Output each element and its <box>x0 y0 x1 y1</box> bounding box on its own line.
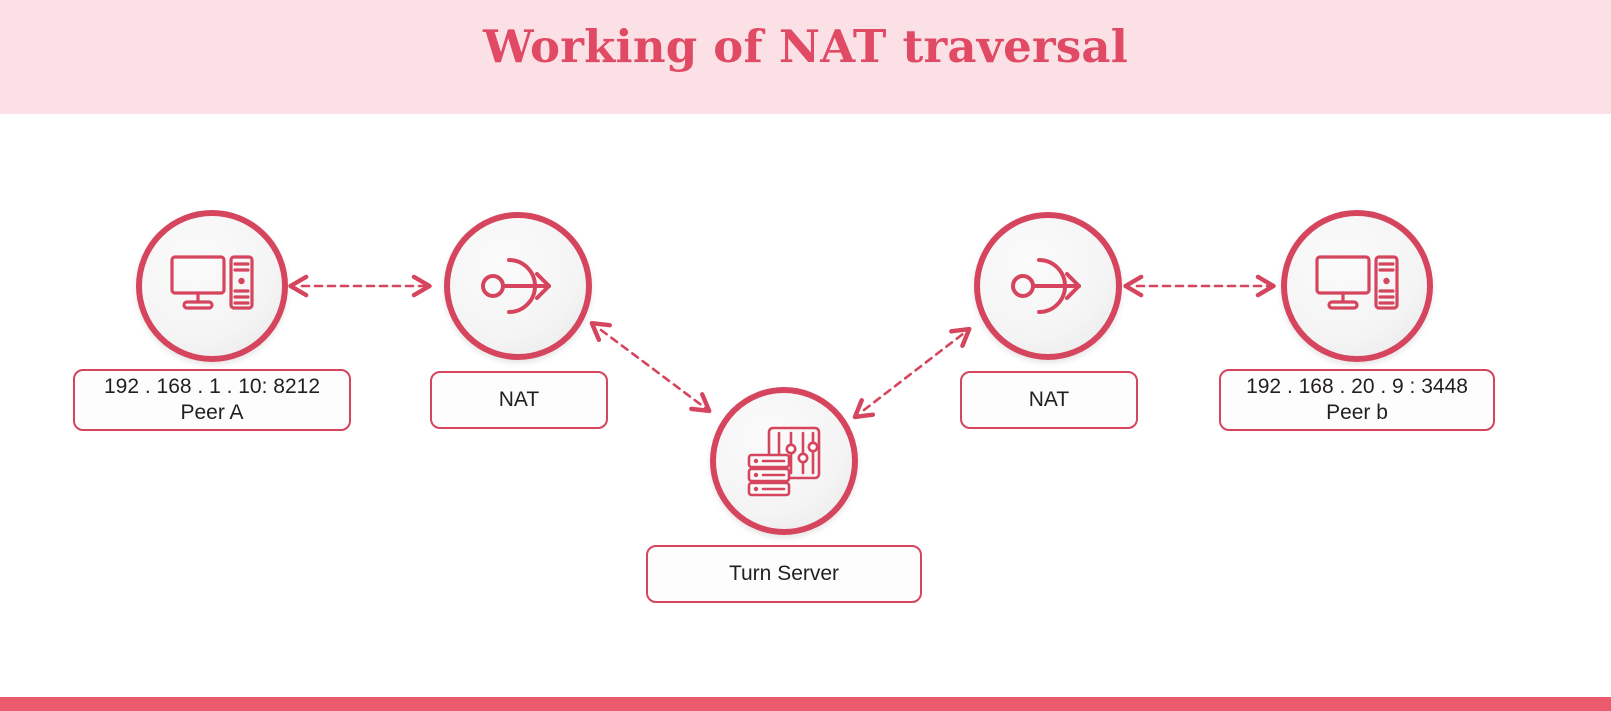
server-settings-icon <box>746 425 822 497</box>
header-band: Working of NAT traversal <box>0 0 1611 114</box>
node-nat-right[interactable] <box>974 212 1122 360</box>
label-peer-b-address: 192 . 168 . 20 . 9 : 3448 <box>1246 374 1468 400</box>
label-peer-a-name: Peer A <box>180 400 243 426</box>
label-nat-left: NAT <box>430 371 608 429</box>
node-peer-a[interactable] <box>136 210 288 362</box>
node-peer-b[interactable] <box>1281 210 1433 362</box>
label-peer-b: 192 . 168 . 20 . 9 : 3448 Peer b <box>1219 369 1495 431</box>
bottom-accent-bar <box>0 697 1611 711</box>
label-turn-server: Turn Server <box>646 545 922 603</box>
desktop-computer-icon <box>169 252 255 320</box>
desktop-computer-icon <box>1314 252 1400 320</box>
connector-turn-to-nat-right <box>864 330 968 410</box>
node-turn-server[interactable] <box>710 387 858 535</box>
label-nat-left-text: NAT <box>499 387 539 413</box>
nat-gateway-icon <box>479 253 557 319</box>
label-nat-right-text: NAT <box>1029 387 1069 413</box>
label-nat-right: NAT <box>960 371 1138 429</box>
node-nat-left[interactable] <box>444 212 592 360</box>
nat-traversal-diagram: Working of NAT traversal NAT (left) --> … <box>0 0 1611 711</box>
nat-gateway-icon <box>1009 253 1087 319</box>
connector-nat-left-to-turn <box>601 330 708 410</box>
label-peer-a: 192 . 168 . 1 . 10: 8212 Peer A <box>73 369 351 431</box>
page-title: Working of NAT traversal <box>0 20 1611 73</box>
label-peer-a-address: 192 . 168 . 1 . 10: 8212 <box>104 374 320 400</box>
label-turn-server-text: Turn Server <box>729 561 839 587</box>
label-peer-b-name: Peer b <box>1326 400 1388 426</box>
